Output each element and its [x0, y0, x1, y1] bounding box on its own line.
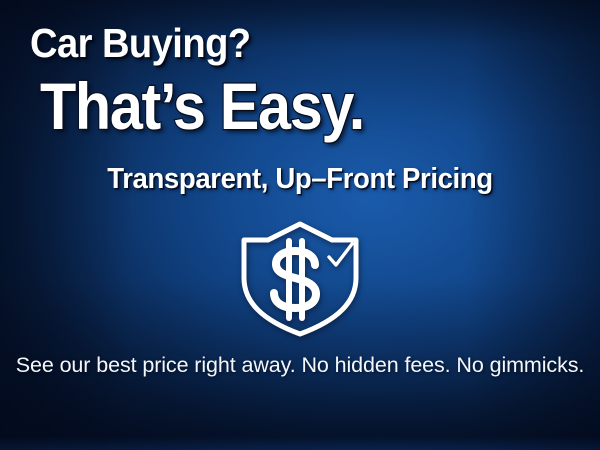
promo-banner: Car Buying? That’s Easy. Transparent, Up… [0, 0, 600, 450]
subtitle-transparent-pricing: Transparent, Up–Front Pricing [15, 162, 585, 196]
dollar-sign-glyph [274, 241, 316, 318]
headline-primary: Car Buying? [30, 20, 251, 66]
headline-secondary: That’s Easy. [40, 70, 364, 142]
shield-dollar-check-icon-svg [232, 218, 368, 340]
shield-dollar-check-icon [0, 218, 600, 343]
tagline: See our best price right away. No hidden… [0, 352, 600, 379]
checkmark-glyph [329, 244, 352, 265]
